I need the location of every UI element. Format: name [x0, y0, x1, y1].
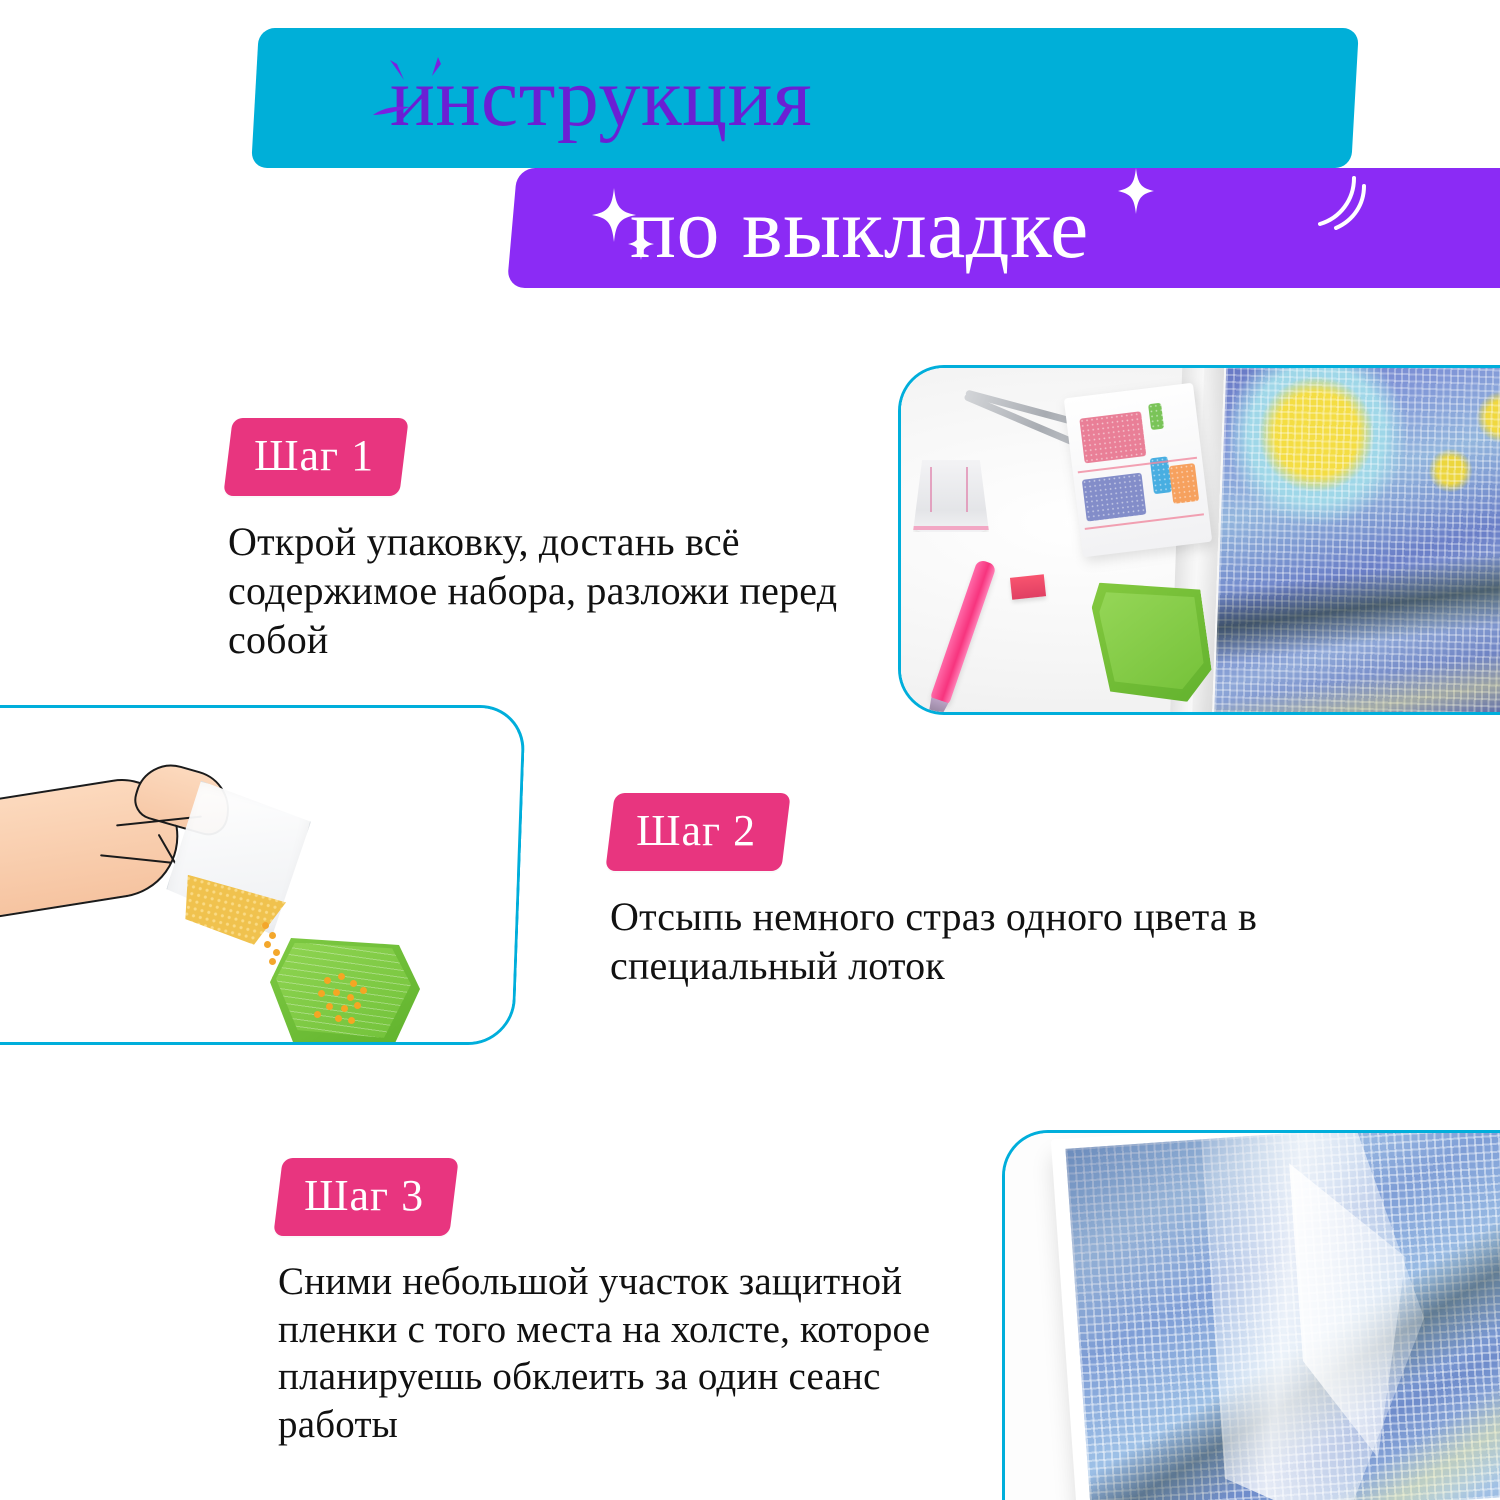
- mosaic-canvas: [1051, 1130, 1500, 1500]
- step-2-block: Шаг 2 Отсыпь немного страз одного цвета …: [610, 793, 1270, 991]
- step-3-badge-label: Шаг 3: [304, 1174, 424, 1218]
- starry-night-mosaic: [1211, 365, 1500, 715]
- instruction-poster: инструкция по выкладке: [0, 0, 1500, 1500]
- step-2-badge-label: Шаг 2: [636, 809, 756, 853]
- diamond-painting-kit-photo: [901, 368, 1500, 712]
- step-1-image-panel: [898, 365, 1500, 715]
- step-2-badge: Шаг 2: [605, 793, 791, 871]
- step-3-text: Сними небольшой участок защитной пленки …: [278, 1258, 978, 1448]
- step-2-text: Отсыпь немного страз одного цвета в спец…: [610, 893, 1270, 991]
- hand-pouring-beads-illustration: [0, 708, 517, 1042]
- step-1-block: Шаг 1 Открой упаковку, достань всё содер…: [228, 418, 868, 664]
- step-1-text: Открой упаковку, достань всё содержимое …: [228, 518, 868, 664]
- wax-cup: [913, 460, 989, 532]
- step-1-badge: Шаг 1: [223, 418, 409, 496]
- wax-square: [1010, 574, 1046, 599]
- step-3-block: Шаг 3 Сними небольшой участок защитной п…: [278, 1158, 978, 1448]
- step-3-image-panel: [1002, 1130, 1500, 1500]
- header-banner-purple: [507, 168, 1500, 288]
- step-1-badge-label: Шаг 1: [254, 434, 374, 478]
- peeling-protective-film-photo: [1005, 1133, 1500, 1500]
- bead-bag-pack: [1064, 383, 1213, 558]
- header-banner-cyan: [251, 28, 1359, 168]
- step-2-image-panel: [0, 705, 526, 1045]
- step-3-badge: Шаг 3: [273, 1158, 459, 1236]
- green-tray: [270, 938, 420, 1045]
